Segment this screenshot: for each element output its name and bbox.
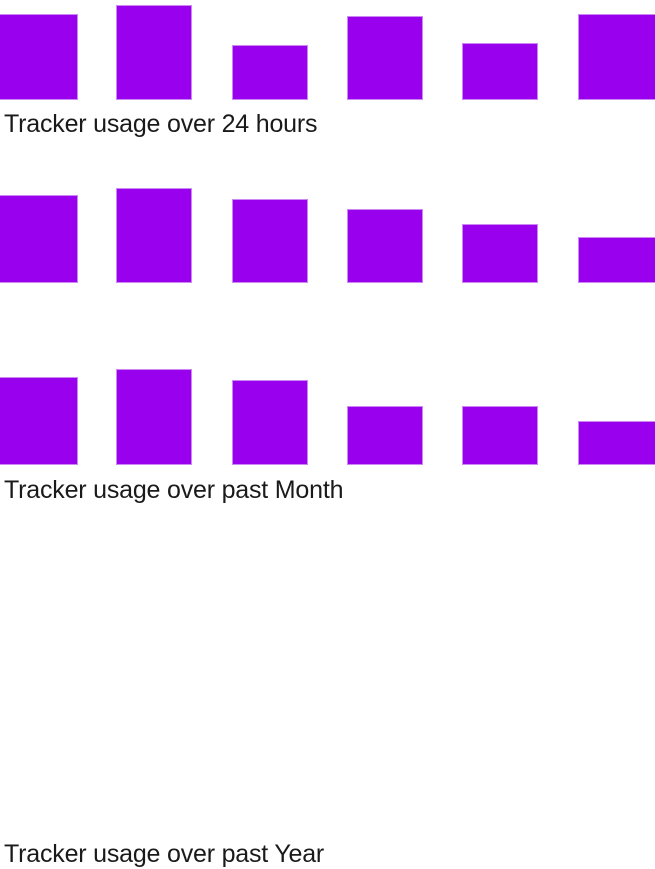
bar xyxy=(462,406,538,465)
bar xyxy=(116,5,192,100)
bar xyxy=(0,14,78,100)
bar xyxy=(232,380,308,465)
bar xyxy=(116,369,192,465)
bar xyxy=(578,237,655,283)
chart-caption-past-month: Tracker usage over past Month xyxy=(4,476,343,505)
bar xyxy=(462,43,538,100)
bar-plot-past-month xyxy=(0,183,655,283)
bar-plot-past-year xyxy=(0,365,655,465)
bar xyxy=(347,406,423,465)
bar xyxy=(347,16,423,100)
chart-block-24-hours: Tracker usage over 24 hours xyxy=(0,0,655,100)
bar xyxy=(232,199,308,283)
chart-block-past-year: Tracker usage over past Year xyxy=(0,365,655,465)
chart-block-past-month: Tracker usage over past Month xyxy=(0,183,655,283)
bar xyxy=(347,209,423,283)
bar xyxy=(578,14,655,100)
bar xyxy=(232,45,308,100)
bar xyxy=(578,421,655,465)
bar xyxy=(462,224,538,283)
tracker-usage-dashboard: { "page": { "background_color": "#ffffff… xyxy=(0,0,655,530)
chart-caption-24-hours: Tracker usage over 24 hours xyxy=(4,110,317,139)
bar xyxy=(0,195,78,283)
bar xyxy=(116,188,192,283)
chart-caption-past-year: Tracker usage over past Year xyxy=(4,840,324,869)
bar-plot-24-hours xyxy=(0,0,655,100)
bar xyxy=(0,377,78,465)
